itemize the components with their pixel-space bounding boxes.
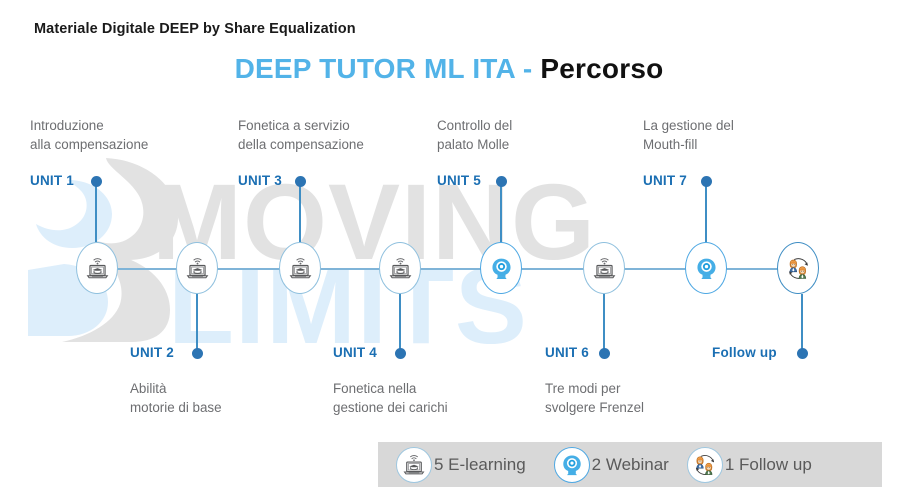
legend-item: 5 E-learning [396, 442, 526, 487]
kicker-text: Materiale Digitale DEEP by Share Equaliz… [34, 21, 356, 37]
legend-label: 5 E-learning [434, 455, 526, 475]
unit-description-unit-6: Tre modi per svolgere Frenzel [545, 379, 644, 417]
connector-dot [192, 348, 203, 359]
slide-canvas: MOVING LIMITS Materiale Digitale DEEP by… [0, 0, 898, 500]
legend-bar: 5 E-learning 2 Webinar 1 Follow u [378, 442, 882, 487]
unit-description-unit-3: Fonetica a servizio della compensazione [238, 116, 364, 154]
timeline-node-unit-3[interactable] [279, 242, 321, 294]
unit-description-unit-2: Abilità motorie di base [130, 379, 222, 417]
unit-label-unit-4[interactable]: UNIT 4 [333, 345, 377, 360]
elearning-laptop-icon [591, 255, 618, 282]
followup-people-icon [785, 255, 812, 282]
timeline-node-unit-1[interactable] [76, 242, 118, 294]
page-title-blue: DEEP TUTOR ML ITA - [235, 53, 533, 84]
webinar-webcam-icon [693, 255, 720, 282]
connector-line [299, 181, 301, 242]
connector-dot [395, 348, 406, 359]
connector-line [705, 181, 707, 242]
page-title: DEEP TUTOR ML ITA - Percorso [0, 53, 898, 85]
unit-label-unit-1[interactable]: UNIT 1 [30, 173, 74, 188]
page-title-dark: Percorso [532, 53, 663, 84]
unit-description-unit-4: Fonetica nella gestione dei carichi [333, 379, 448, 417]
unit-label-unit-2[interactable]: UNIT 2 [130, 345, 174, 360]
elearning-laptop-icon [287, 255, 314, 282]
connector-line [500, 181, 502, 242]
unit-label-follow-up[interactable]: Follow up [712, 345, 777, 360]
followup-people-icon [687, 447, 723, 483]
unit-label-unit-6[interactable]: UNIT 6 [545, 345, 589, 360]
connector-line [603, 294, 605, 353]
timeline-node-unit-5[interactable] [480, 242, 522, 294]
webinar-webcam-icon [554, 447, 590, 483]
legend-item: 1 Follow up [687, 442, 812, 487]
timeline-node-unit-6[interactable] [583, 242, 625, 294]
watermark-text-moving: MOVING [152, 168, 596, 276]
connector-dot [496, 176, 507, 187]
connector-dot [91, 176, 102, 187]
timeline-node-unit-2[interactable] [176, 242, 218, 294]
unit-description-unit-7: La gestione del Mouth-fill [643, 116, 734, 154]
unit-label-unit-3[interactable]: UNIT 3 [238, 173, 282, 188]
unit-label-unit-7[interactable]: UNIT 7 [643, 173, 687, 188]
timeline-node-unit-4[interactable] [379, 242, 421, 294]
legend-label: 2 Webinar [592, 455, 669, 475]
connector-dot [295, 176, 306, 187]
unit-description-unit-5: Controllo del palato Molle [437, 116, 512, 154]
unit-description-unit-1: Introduzione alla compensazione [30, 116, 148, 154]
connector-dot [797, 348, 808, 359]
connector-line [399, 294, 401, 353]
connector-line [95, 181, 97, 242]
legend-item: 2 Webinar [554, 442, 669, 487]
connector-dot [599, 348, 610, 359]
elearning-laptop-icon [387, 255, 414, 282]
webinar-webcam-icon [488, 255, 515, 282]
elearning-laptop-icon [396, 447, 432, 483]
legend-label: 1 Follow up [725, 455, 812, 475]
connector-dot [701, 176, 712, 187]
unit-label-unit-5[interactable]: UNIT 5 [437, 173, 481, 188]
timeline-node-follow-up[interactable] [777, 242, 819, 294]
elearning-laptop-icon [184, 255, 211, 282]
connector-line [196, 294, 198, 353]
elearning-laptop-icon [84, 255, 111, 282]
timeline-node-unit-7[interactable] [685, 242, 727, 294]
connector-line [801, 294, 803, 353]
